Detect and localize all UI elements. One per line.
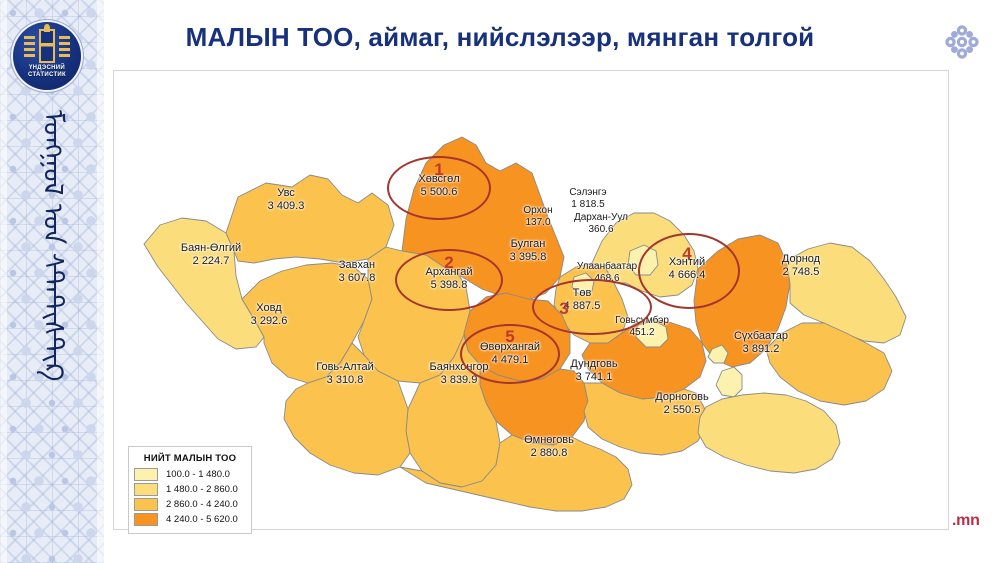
soyombo-emblem-icon <box>24 29 70 63</box>
map-label-ulaanbaatar: Улаанбаатар 468.6 <box>577 261 637 284</box>
mongolian-script-text: ᠮᠣᠩᠭᠣᠯ ᠤᠨ ᠰᠲ᠋ᠠᠲ᠋ᠢᠰᠲ᠋ᠢᠺ <box>38 110 66 381</box>
rank-badge-1: 1 <box>434 160 443 180</box>
legend-range-4: 4 240.0 - 5 620.0 <box>166 514 238 525</box>
map-label-khovd: Ховд 3 292.6 <box>251 302 288 327</box>
region-uvs[interactable] <box>226 175 394 263</box>
legend-range-1: 100.0 - 1 480.0 <box>166 469 230 480</box>
map-label-govi-altai: Говь-Алтай 3 310.8 <box>316 361 374 386</box>
logo-line-2: СТАТИСТИК <box>28 72 66 78</box>
rank-badge-5: 5 <box>505 327 514 347</box>
map-label-bayankhongor: Баянхонгор 3 839.9 <box>430 361 489 386</box>
map-label-orkhon: Орхон 137.0 <box>523 205 552 228</box>
region-dornogovi[interactable] <box>698 393 840 473</box>
legend-title: НИЙТ МАЛЫН ТОО <box>134 451 246 468</box>
mn-watermark: .mn <box>952 512 980 530</box>
map-label-bayan-olgii: Баян-Өлгий 2 224.7 <box>181 242 241 267</box>
legend-range-2: 1 480.0 - 2 860.0 <box>166 484 238 495</box>
map-label-sukhbaatar: Сүхбаатар 3 891.2 <box>734 330 788 355</box>
rank-badge-2: 2 <box>444 253 453 273</box>
page-title: МАЛЫН ТОО, аймаг, нийслэлээр, мянган тол… <box>150 22 850 53</box>
legend-swatch-4 <box>134 513 158 526</box>
map-label-uvs: Увс 3 409.3 <box>268 187 305 212</box>
ornamental-sidebar: ҮНДЭСНИЙ СТАТИСТИК ᠮᠣᠩᠭᠣᠯ ᠤᠨ ᠰᠲ᠋ᠠᠲ᠋ᠢᠰᠲ᠋ᠢ… <box>0 0 104 563</box>
nso-logo: ҮНДЭСНИЙ СТАТИСТИК <box>13 22 81 90</box>
map-label-dundgovi: Дундговь 3 741.1 <box>570 358 617 383</box>
legend-swatch-3 <box>134 498 158 511</box>
map-label-darkhan-uul: Дархан-Уул 360.6 <box>574 212 628 235</box>
map-frame: Увс 3 409.3 Баян-Өлгий 2 224.7 Ховд 3 29… <box>113 70 949 530</box>
legend-item: 100.0 - 1 480.0 <box>134 468 246 481</box>
legend-swatch-1 <box>134 468 158 481</box>
legend-item: 4 240.0 - 5 620.0 <box>134 513 246 526</box>
legend-swatch-2 <box>134 483 158 496</box>
mongolian-vertical-script: ᠮᠣᠩᠭᠣᠯ ᠤᠨ ᠰᠲ᠋ᠠᠲ᠋ᠢᠰᠲ᠋ᠢᠺ <box>0 110 104 381</box>
floral-mandala-icon <box>942 22 982 62</box>
region-govisumber[interactable] <box>716 367 742 397</box>
logo-text: ҮНДЭСНИЙ СТАТИСТИК <box>28 65 66 79</box>
map-label-selenge: Сэлэнгэ 1 818.5 <box>569 187 606 210</box>
map-label-dornogovi: Дорноговь 2 550.5 <box>655 391 708 416</box>
map-label-tuv: Төв 4 887.5 <box>564 287 601 312</box>
rank-badge-3: 3 <box>559 299 568 319</box>
map-label-omnogovi: Өмнөговь 2 880.8 <box>524 434 574 459</box>
logo-line-1: ҮНДЭСНИЙ <box>29 65 65 71</box>
map-label-govisumber: Говьсүмбэр 451.2 <box>615 315 669 338</box>
legend-item: 1 480.0 - 2 860.0 <box>134 483 246 496</box>
map-label-zavkhan: Завхан 3 607.8 <box>339 259 376 284</box>
legend-item: 2 860.0 - 4 240.0 <box>134 498 246 511</box>
map-label-bulgan: Булган 3 395.8 <box>510 238 547 263</box>
legend-range-3: 2 860.0 - 4 240.0 <box>166 499 238 510</box>
map-label-dornod: Дорнод 2 748.5 <box>782 253 820 278</box>
map-legend: НИЙТ МАЛЫН ТОО 100.0 - 1 480.0 1 480.0 -… <box>128 446 252 534</box>
rank-badge-4: 4 <box>682 244 691 264</box>
